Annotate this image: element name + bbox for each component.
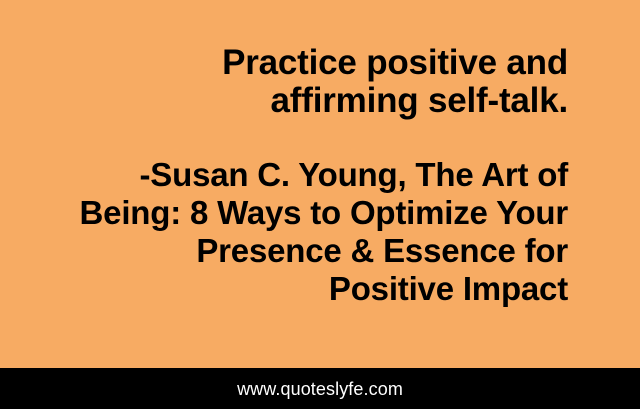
quote-text: Practice positive and affirming self-tal…	[72, 44, 568, 120]
quote-attribution: -Susan C. Young, The Art of Being: 8 Way…	[72, 156, 568, 308]
footer-website-url[interactable]: www.quoteslyfe.com	[237, 380, 403, 398]
footer-bar: www.quoteslyfe.com	[0, 368, 640, 409]
quote-content-area: Practice positive and affirming self-tal…	[0, 0, 640, 368]
quote-card: Practice positive and affirming self-tal…	[0, 0, 640, 409]
